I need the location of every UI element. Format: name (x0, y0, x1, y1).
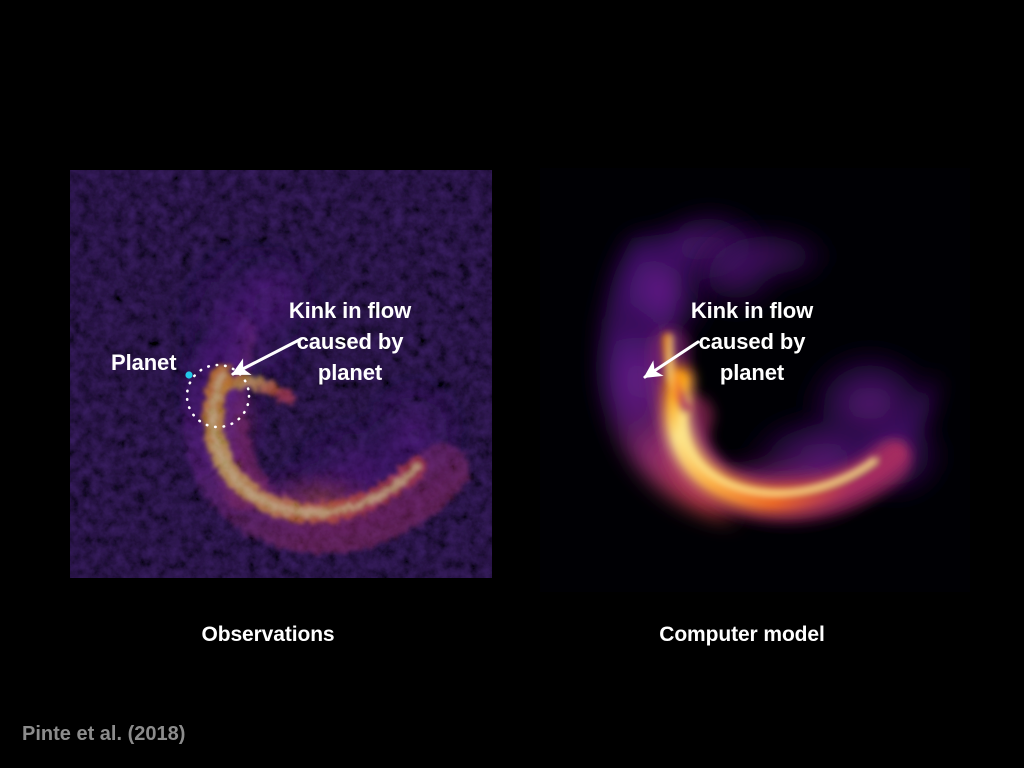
caption-model: Computer model (592, 623, 892, 647)
citation: Pinte et al. (2018) (22, 723, 185, 746)
kink-label-observations-line1: Kink in flow (272, 295, 428, 326)
kink-label-model-line1: Kink in flow (674, 295, 830, 326)
kink-label-observations: Kink in flow caused by planet (272, 295, 428, 388)
kink-label-model: Kink in flow caused by planet (674, 295, 830, 388)
figure-slide: Kink in flow caused by planet Planet Kin… (0, 0, 1024, 768)
planet-label: Planet (111, 350, 176, 376)
kink-label-observations-line3: planet (272, 357, 428, 388)
kink-label-model-line2: caused by (674, 326, 830, 357)
caption-observations: Observations (118, 623, 418, 647)
kink-label-observations-line2: caused by (272, 326, 428, 357)
kink-label-model-line3: planet (674, 357, 830, 388)
